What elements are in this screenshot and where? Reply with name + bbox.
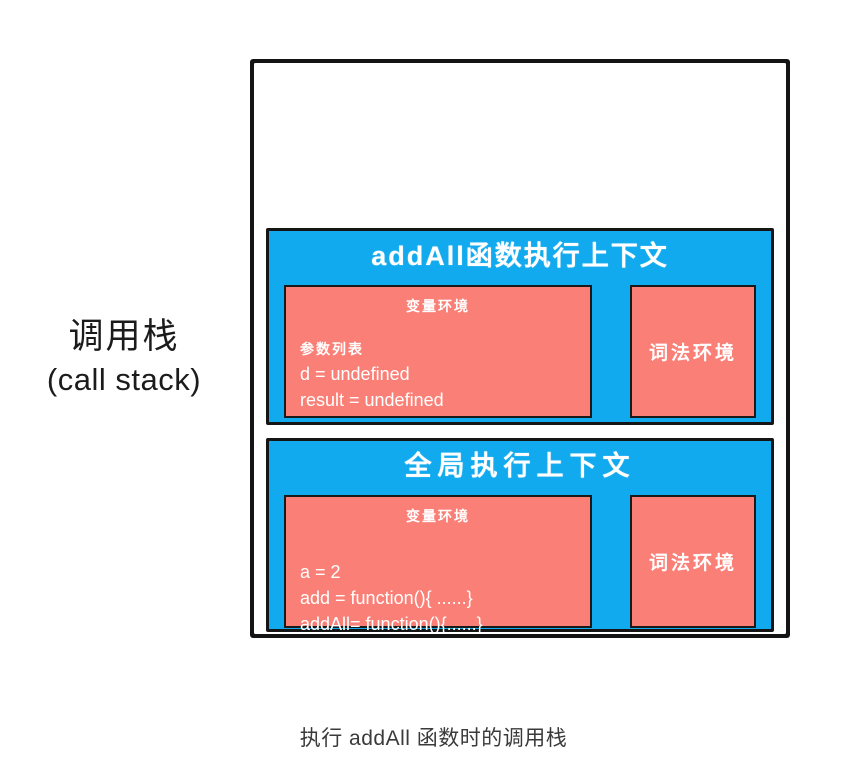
- variable-environment-addall: 变量环境 参数列表 d = undefined result = undefin…: [284, 285, 592, 418]
- variable-entry-result: result = undefined: [300, 387, 582, 413]
- variable-environment-addall-entries: 参数列表 d = undefined result = undefined: [300, 339, 582, 413]
- call-stack-label-en: (call stack): [0, 361, 248, 399]
- call-stack-label-cn: 调用栈: [0, 316, 248, 359]
- variable-environment-global-heading: 变量环境: [286, 497, 590, 526]
- variable-entry-a: a = 2: [300, 559, 582, 585]
- call-stack-label: 调用栈 (call stack): [0, 316, 248, 399]
- execution-context-global: 全局执行上下文 变量环境 a = 2 add = function(){ ...…: [266, 438, 774, 632]
- variable-environment-addall-subheading: 参数列表: [300, 339, 582, 359]
- call-stack-empty-space: [254, 63, 786, 225]
- diagram-caption: 执行 addAll 函数时的调用栈: [0, 722, 867, 752]
- environment-row-addall: 变量环境 参数列表 d = undefined result = undefin…: [269, 285, 771, 418]
- lexical-environment-addall-label: 词法环境: [649, 338, 737, 365]
- variable-entry-addall: addAll= function(){......}: [300, 611, 582, 637]
- lexical-environment-addall: 词法环境: [630, 285, 756, 418]
- lexical-environment-global-label: 词法环境: [649, 548, 737, 575]
- lexical-environment-global: 词法环境: [630, 495, 756, 628]
- variable-entry-d: d = undefined: [300, 361, 582, 387]
- execution-context-global-title: 全局执行上下文: [269, 441, 771, 480]
- variable-environment-global-entries: a = 2 add = function(){ ......} addAll= …: [300, 559, 582, 637]
- environment-row-global: 变量环境 a = 2 add = function(){ ......} add…: [269, 495, 771, 628]
- variable-environment-addall-heading: 变量环境: [286, 287, 590, 316]
- variable-environment-global: 变量环境 a = 2 add = function(){ ......} add…: [284, 495, 592, 628]
- execution-context-addall-title: addAll函数执行上下文: [269, 231, 771, 270]
- call-stack-frame: addAll函数执行上下文 变量环境 参数列表 d = undefined re…: [250, 59, 790, 638]
- execution-context-addall: addAll函数执行上下文 变量环境 参数列表 d = undefined re…: [266, 228, 774, 425]
- variable-entry-add: add = function(){ ......}: [300, 585, 582, 611]
